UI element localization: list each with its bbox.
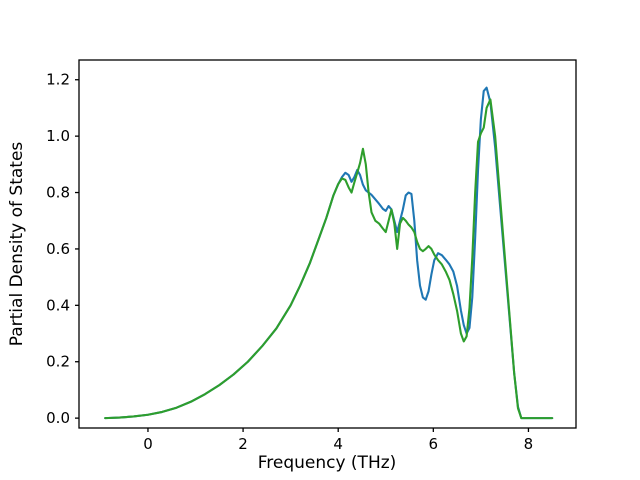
x-tick-label: 8 bbox=[524, 435, 534, 453]
chart-plot: 024680.00.20.40.60.81.01.2 Frequency (TH… bbox=[0, 0, 640, 480]
x-tick-label: 2 bbox=[238, 435, 248, 453]
y-tick-label: 0.6 bbox=[46, 240, 70, 258]
x-tick-label: 4 bbox=[333, 435, 343, 453]
y-tick-label: 1.2 bbox=[46, 71, 70, 89]
y-tick-label: 0.0 bbox=[46, 409, 70, 427]
x-axis-title: Frequency (THz) bbox=[258, 453, 397, 473]
x-tick-label: 6 bbox=[429, 435, 439, 453]
y-tick-label: 0.4 bbox=[46, 296, 70, 314]
y-tick-label: 1.0 bbox=[46, 127, 70, 145]
x-tick-label: 0 bbox=[143, 435, 153, 453]
plot-background bbox=[79, 60, 576, 428]
y-tick-label: 0.2 bbox=[46, 353, 70, 371]
y-axis-title: Partial Density of States bbox=[7, 142, 27, 347]
figure-canvas: 024680.00.20.40.60.81.01.2 Frequency (TH… bbox=[0, 0, 640, 480]
y-tick-label: 0.8 bbox=[46, 184, 70, 202]
